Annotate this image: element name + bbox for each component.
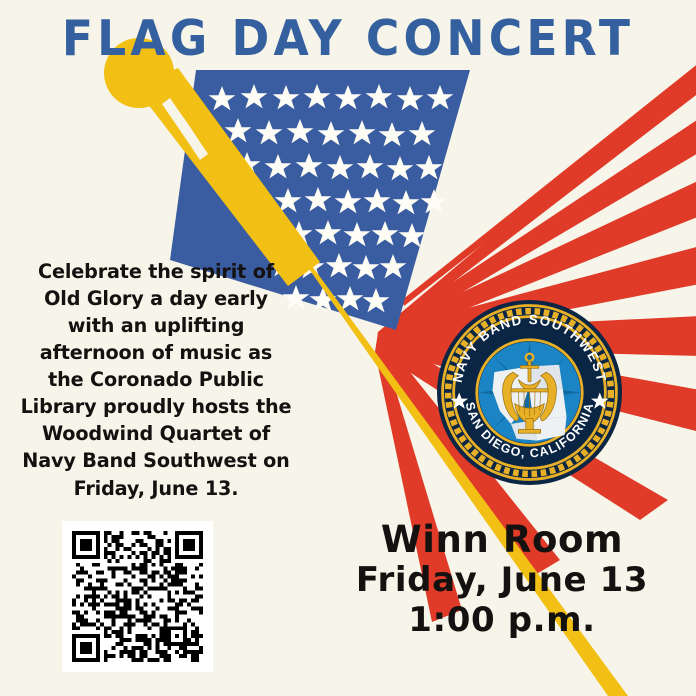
qr-code[interactable] xyxy=(62,521,213,672)
venue-name: Winn Room xyxy=(316,518,688,561)
page-title: FLAG DAY CONCERT xyxy=(24,14,671,63)
qr-code-image[interactable] xyxy=(72,531,203,662)
body-line: the Coronado Public xyxy=(20,366,292,393)
body-line: with an uplifting xyxy=(20,312,292,339)
event-details: Winn Room Friday, June 13 1:00 p.m. xyxy=(316,518,688,641)
poster-canvas: FLAG DAY CONCERT Celebrate the spirit of… xyxy=(0,0,696,696)
body-copy: Celebrate the spirit of Old Glory a day … xyxy=(20,258,292,502)
body-line: Old Glory a day early xyxy=(20,285,292,312)
navy-band-southwest-seal: NAVY BAND SOUTHWEST SAN DIEGO, CALIFORNI… xyxy=(437,300,622,485)
body-line: Friday, June 13. xyxy=(20,475,292,502)
body-line: Celebrate the spirit of xyxy=(20,258,292,285)
body-line: afternoon of music as xyxy=(20,339,292,366)
event-date: Friday, June 13 xyxy=(316,561,688,601)
body-line: Library proudly hosts the xyxy=(20,393,292,420)
event-time: 1:00 p.m. xyxy=(316,601,688,641)
body-line: Navy Band Southwest on xyxy=(20,447,292,474)
body-line: Woodwind Quartet of xyxy=(20,420,292,447)
